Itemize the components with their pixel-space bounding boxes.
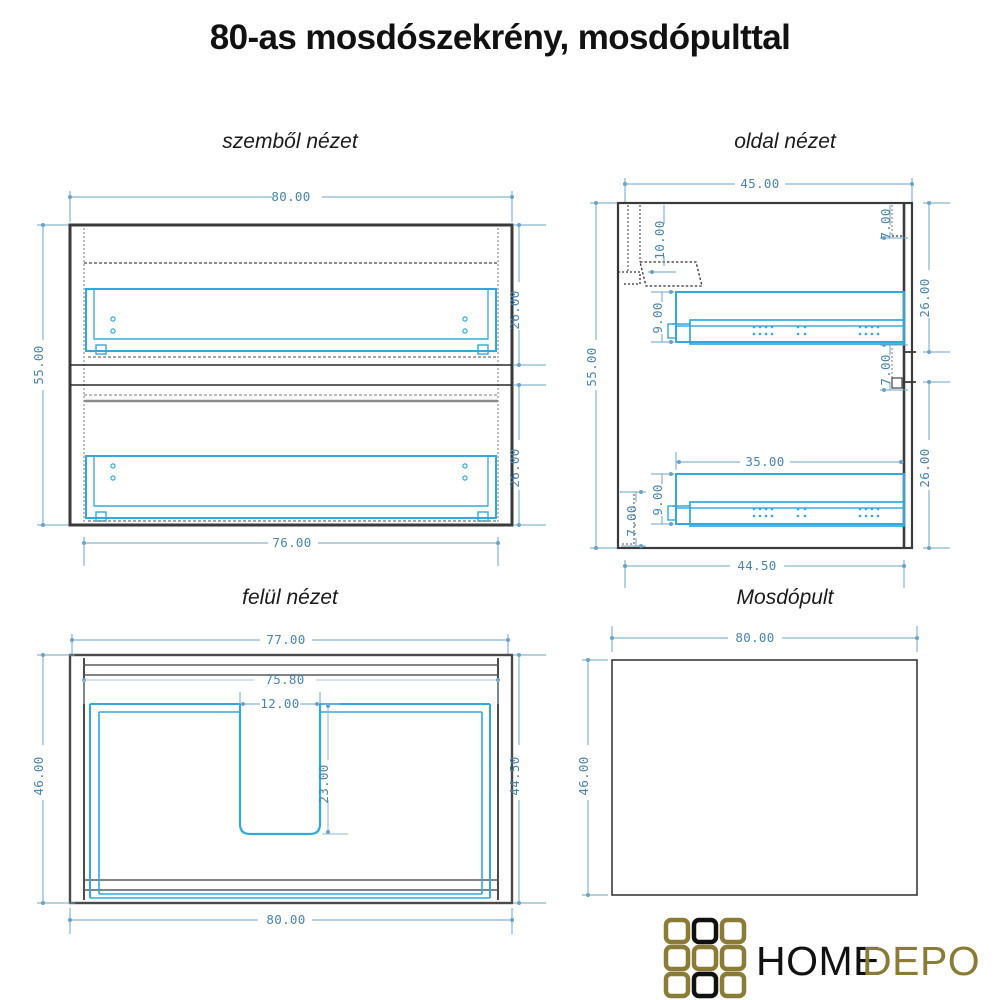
dim-front-width-top: 80.00 (68, 189, 514, 222)
logo-square-1-0 (666, 947, 688, 969)
svg-text:44.50: 44.50 (507, 756, 522, 795)
svg-text:75.80: 75.80 (265, 672, 304, 687)
svg-text:26.00: 26.00 (917, 278, 932, 317)
logo-square-2-0 (666, 974, 688, 996)
countertop-outline (612, 660, 917, 895)
svg-text:7.00: 7.00 (878, 354, 893, 385)
dim-side-drawer-lower: 26.00 (917, 380, 950, 550)
svg-text:23.00: 23.00 (316, 764, 331, 803)
top-cabinet-outline (70, 655, 512, 903)
top-view-group: 77.00 75.80 (31, 632, 546, 934)
front-cabinet-outline (70, 225, 512, 525)
svg-text:12.00: 12.00 (260, 696, 299, 711)
side-view-group: 45.00 55.00 (584, 176, 950, 588)
dim-side-drawer-upper: 26.00 (917, 201, 950, 354)
svg-text:9.00: 9.00 (650, 484, 665, 515)
svg-text:26.00: 26.00 (917, 448, 932, 487)
svg-text:80.00: 80.00 (735, 630, 774, 645)
svg-text:7.00: 7.00 (878, 208, 893, 239)
svg-text:26.00: 26.00 (507, 290, 522, 329)
svg-text:55.00: 55.00 (31, 345, 46, 384)
countertop-view-group: 80.00 46.00 (576, 626, 919, 897)
svg-text:76.00: 76.00 (272, 535, 311, 550)
svg-text:35.00: 35.00 (745, 454, 784, 469)
logo-square-2-1 (694, 974, 716, 996)
dim-side-depth-bottom: 44.50 (623, 558, 906, 588)
front-view-drawing: 80.00 55.00 (0, 0, 1000, 1000)
svg-text:46.00: 46.00 (576, 756, 591, 795)
dim-front-width-bottom: 76.00 (82, 535, 500, 566)
drawing-sheet: 80-as mosdószekrény, mosdópulttal szembő… (0, 0, 1000, 1000)
svg-text:80.00: 80.00 (271, 189, 310, 204)
dim-top-depth-left: 46.00 (31, 653, 75, 905)
logo-grid (666, 920, 744, 996)
logo-text-depo: DEPO (862, 938, 980, 985)
logo-square-2-2 (722, 974, 744, 996)
svg-text:55.00: 55.00 (584, 347, 599, 386)
svg-text:45.00: 45.00 (740, 176, 779, 191)
dim-countertop-width: 80.00 (610, 626, 919, 652)
dim-top-width-bottom: 80.00 (68, 908, 514, 934)
dim-countertop-depth: 46.00 (576, 658, 608, 897)
front-view-group: 80.00 55.00 (31, 189, 546, 566)
svg-text:46.00: 46.00 (31, 756, 46, 795)
svg-text:10.00: 10.00 (652, 220, 667, 259)
svg-text:77.00: 77.00 (266, 632, 305, 647)
svg-text:80.00: 80.00 (266, 912, 305, 927)
logo-square-0-1 (694, 920, 716, 942)
dim-front-height: 55.00 (31, 223, 75, 527)
svg-text:44.50: 44.50 (737, 558, 776, 573)
svg-text:7.00: 7.00 (624, 505, 639, 536)
svg-text:26.00: 26.00 (507, 448, 522, 487)
logo-square-0-2 (722, 920, 744, 942)
logo-square-1-2 (722, 947, 744, 969)
logo-square-0-0 (666, 920, 688, 942)
logo-square-1-1 (694, 947, 716, 969)
svg-text:9.00: 9.00 (650, 302, 665, 333)
